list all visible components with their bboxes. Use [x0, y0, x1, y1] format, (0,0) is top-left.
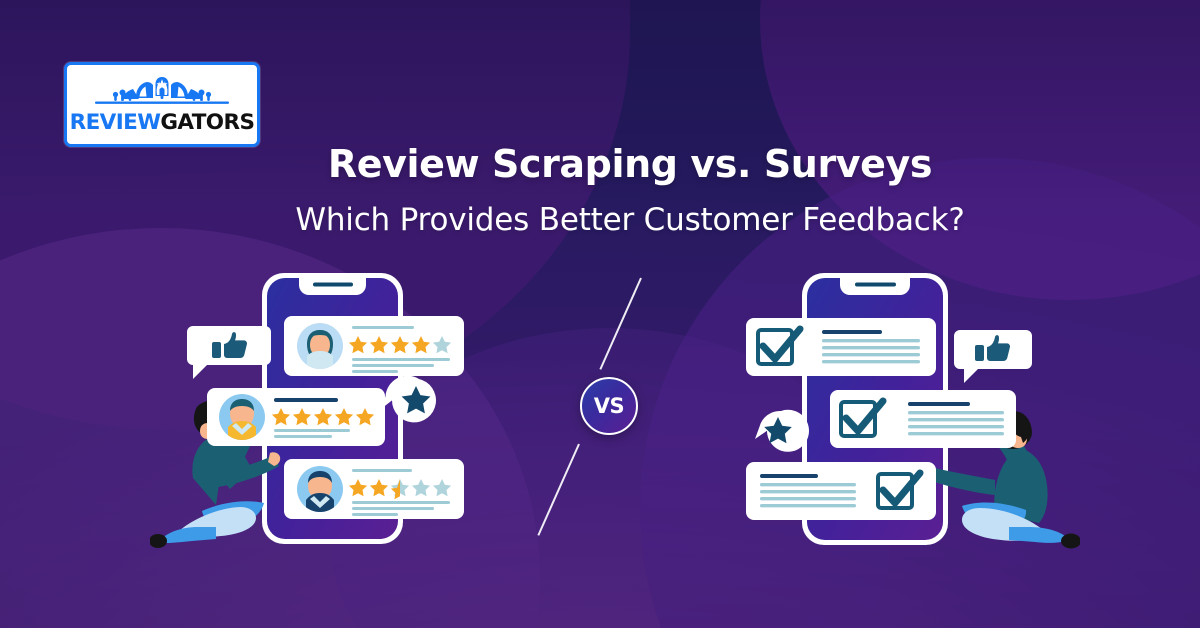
- review-card-1: [284, 316, 464, 376]
- logo-word-gators: GATORS: [160, 110, 254, 135]
- gator-crest-icon: [87, 75, 237, 111]
- review-card-3: [284, 459, 464, 519]
- survey-card-2: [830, 390, 1016, 448]
- review-title-bar-2: [274, 398, 338, 402]
- phone-speaker-left: [313, 283, 353, 287]
- survey-title-bar-3: [760, 474, 818, 478]
- reviewgators-logo[interactable]: REVIEWGATORS: [64, 62, 260, 147]
- surveys-illustration: [730, 268, 1080, 568]
- star-bubble-right: [755, 410, 809, 452]
- survey-title-bar-2: [908, 402, 970, 406]
- divider-line-top: [599, 278, 642, 370]
- logo-inner: REVIEWGATORS: [67, 75, 257, 134]
- page-subtitle: Which Provides Better Customer Feedback?: [60, 202, 1200, 238]
- shoe-left: [150, 534, 167, 548]
- phone-speaker-right: [855, 283, 896, 287]
- survey-title-bar-1: [822, 330, 882, 334]
- divider-line-bottom: [537, 444, 580, 536]
- page-title: Review Scraping vs. Surveys: [60, 142, 1200, 186]
- review-scraping-illustration: [150, 268, 490, 568]
- versus-label: VS: [594, 394, 624, 418]
- review-card-2: [207, 388, 385, 446]
- banner-canvas: REVIEWGATORS Review Scraping vs. Surveys…: [0, 0, 1200, 628]
- title-block: Review Scraping vs. Surveys Which Provid…: [0, 142, 1200, 238]
- versus-badge[interactable]: VS: [580, 377, 638, 435]
- logo-word-review: REVIEW: [70, 110, 161, 135]
- survey-card-3: [746, 462, 936, 520]
- thumbs-up-bubble-left: [187, 326, 271, 379]
- survey-card-1: [746, 318, 936, 376]
- thumbs-up-bubble-right: [954, 330, 1032, 383]
- logo-wordmark: REVIEWGATORS: [70, 112, 255, 134]
